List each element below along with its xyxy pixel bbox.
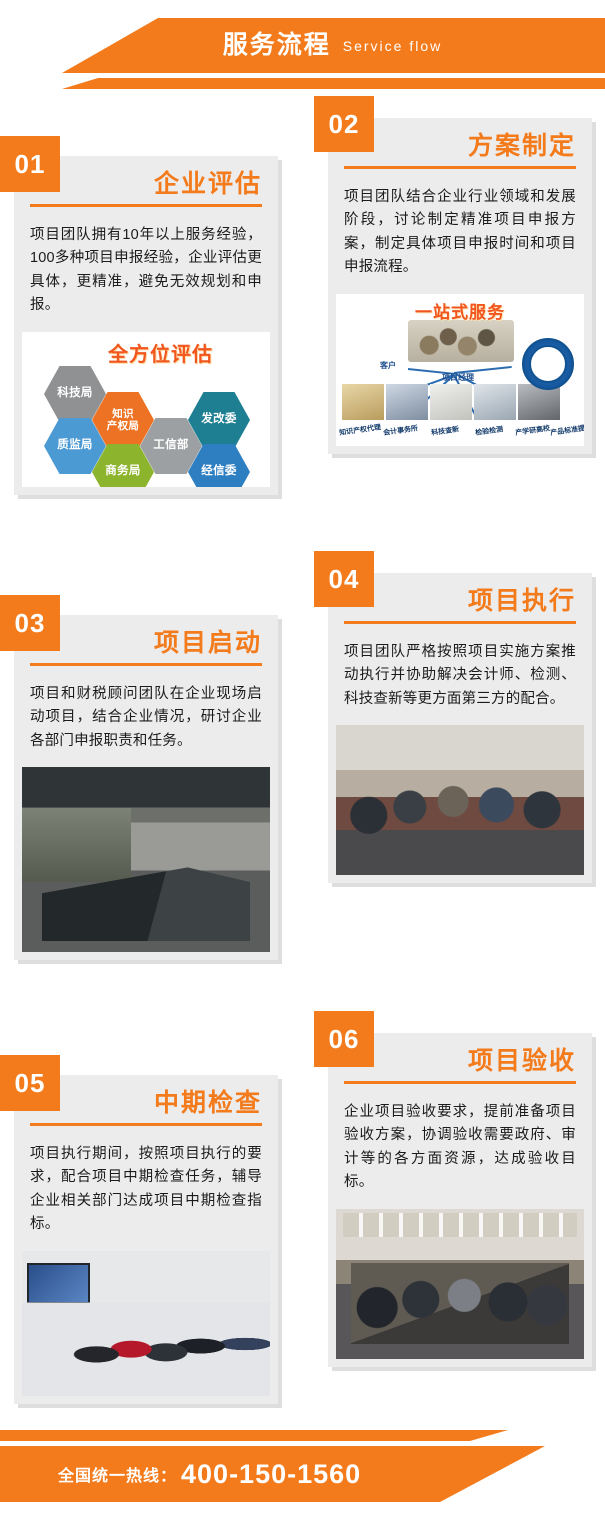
- step-number-badge-04: 04: [314, 551, 374, 607]
- title-underline-01: [30, 204, 262, 207]
- oss-caption-tech-novelty-search: 科技查新: [431, 424, 460, 438]
- card-title-04: 项目执行: [468, 587, 576, 616]
- hex-diagram-title: 全方位评估: [108, 338, 213, 367]
- oss-thumb-tech-novelty-search: [430, 384, 472, 420]
- service-step-grid: 01 企业评估 项目团队拥有10年以上服务经验，100多种项目申报经验，企业评估…: [0, 108, 605, 1443]
- hex-diagram: 全方位评估 科技局 知识产权局 质监局 工信部 商务局 发改委 经信委: [22, 332, 270, 487]
- card-row-1: 01 企业评估 项目团队拥有10年以上服务经验，100多种项目申报经验，企业评估…: [0, 108, 605, 563]
- oss-caption-university-research: 产学研高校: [515, 423, 551, 438]
- card-title-03: 项目启动: [154, 629, 262, 658]
- card-body-03: 项目和财税顾问团队在企业现场启动项目，结合企业情况，研讨企业各部门申报职责和任务…: [14, 671, 278, 767]
- photo-boardroom: [336, 1209, 584, 1359]
- card-title-05: 中期检查: [154, 1089, 262, 1118]
- oss-caption-accounting-firm: 会计事务所: [383, 423, 419, 438]
- hotline-number[interactable]: 400-150-1560: [181, 1459, 361, 1490]
- footer-hotline-group: 全国统一热线： 400-150-1560: [0, 1446, 605, 1502]
- card-body-04: 项目团队严格按照项目实施方案推动执行并协助解决会计师、检测、科技查新等更方面第三…: [328, 629, 592, 725]
- card-title-06: 项目验收: [468, 1047, 576, 1076]
- footer-orange-stripe: [0, 1430, 605, 1441]
- service-step-card-03[interactable]: 03 项目启动 项目和财税顾问团队在企业现场启动项目，结合企业情况，研讨企业各部…: [14, 615, 278, 960]
- header-title-group: 服务流程 Service flow: [0, 18, 605, 73]
- step-number-badge-05: 05: [0, 1055, 60, 1111]
- service-step-card-04[interactable]: 04 项目执行 项目团队严格按照项目实施方案推动执行并协助解决会计师、检测、科技…: [328, 573, 592, 883]
- one-stop-service-diagram: 一站式服务 客户 项目经理 知识产权代理 会计事: [336, 294, 584, 446]
- hotline-label: 全国统一热线：: [58, 1462, 177, 1486]
- card-title-02: 方案制定: [468, 132, 576, 161]
- card-title-01: 企业评估: [154, 170, 262, 199]
- oss-caption-product-standard: 产品标准提案: [550, 422, 584, 438]
- card-media-04: [336, 725, 584, 875]
- service-step-card-01[interactable]: 01 企业评估 项目团队拥有10年以上服务经验，100多种项目申报经验，企业评估…: [14, 156, 278, 495]
- oss-thumb-ip-agency: [342, 384, 384, 420]
- card-body-06: 企业项目验收要求，提前准备项目验收方案，协调验收需要政府、审计等的各方面资源，达…: [328, 1089, 592, 1209]
- card-row-2: 03 项目启动 项目和财税顾问团队在企业现场启动项目，结合企业情况，研讨企业各部…: [0, 563, 605, 1023]
- card-body-01: 项目团队拥有10年以上服务经验，100多种项目申报经验，企业评估更具体，更精准，…: [14, 212, 278, 332]
- step-number-badge-06: 06: [314, 1011, 374, 1067]
- service-step-card-02[interactable]: 02 方案制定 项目团队结合企业行业领域和发展阶段，讨论制定精准项目申报方案，制…: [328, 118, 592, 454]
- oss-diagram-title: 一站式服务: [415, 298, 505, 323]
- page-header: 服务流程 Service flow: [0, 0, 605, 115]
- page-subtitle: Service flow: [343, 39, 442, 53]
- title-underline-03: [30, 663, 262, 666]
- step-number-badge-03: 03: [0, 595, 60, 651]
- card-row-3: 05 中期检查 项目执行期间，按照项目执行的要求，配合项目中期检查任务，辅导企业…: [0, 1023, 605, 1443]
- certification-seal-icon: [522, 338, 574, 390]
- oss-node-project-manager: 项目经理: [442, 372, 474, 383]
- oss-caption-ip-agency: 知识产权代理: [339, 422, 382, 438]
- step-number-badge-02: 02: [314, 96, 374, 152]
- card-media-02: 一站式服务 客户 项目经理 知识产权代理 会计事: [336, 294, 584, 446]
- photo-showroom-tour: [22, 1251, 270, 1396]
- step-number-badge-01: 01: [0, 136, 60, 192]
- title-underline-05: [30, 1123, 262, 1126]
- oss-thumb-inspection-testing: [474, 384, 516, 420]
- card-media-03: [22, 767, 270, 952]
- oss-node-customer: 客户: [380, 360, 396, 371]
- card-media-05: [22, 1251, 270, 1396]
- oss-team-photo: [408, 320, 514, 362]
- page-footer: 全国统一热线： 400-150-1560: [0, 1418, 605, 1538]
- oss-thumb-accounting-firm: [386, 384, 428, 420]
- photo-meeting-laptops: [336, 725, 584, 875]
- photo-conference-room: [22, 767, 270, 952]
- service-step-card-05[interactable]: 05 中期检查 项目执行期间，按照项目执行的要求，配合项目中期检查任务，辅导企业…: [14, 1075, 278, 1404]
- header-orange-stripe: [0, 78, 605, 89]
- title-underline-02: [344, 166, 576, 169]
- card-media-01: 全方位评估 科技局 知识产权局 质监局 工信部 商务局 发改委 经信委: [22, 332, 270, 487]
- card-body-05: 项目执行期间，按照项目执行的要求，配合项目中期检查任务，辅导企业相关部门达成项目…: [14, 1131, 278, 1251]
- card-body-02: 项目团队结合企业行业领域和发展阶段，讨论制定精准项目申报方案，制定具体项目申报时…: [328, 174, 592, 294]
- service-step-card-06[interactable]: 06 项目验收 企业项目验收要求，提前准备项目验收方案，协调验收需要政府、审计等…: [328, 1033, 592, 1367]
- title-underline-06: [344, 1081, 576, 1084]
- page-title: 服务流程: [223, 33, 331, 58]
- title-underline-04: [344, 621, 576, 624]
- oss-caption-inspection-testing: 检验检测: [475, 424, 504, 438]
- card-media-06: [336, 1209, 584, 1359]
